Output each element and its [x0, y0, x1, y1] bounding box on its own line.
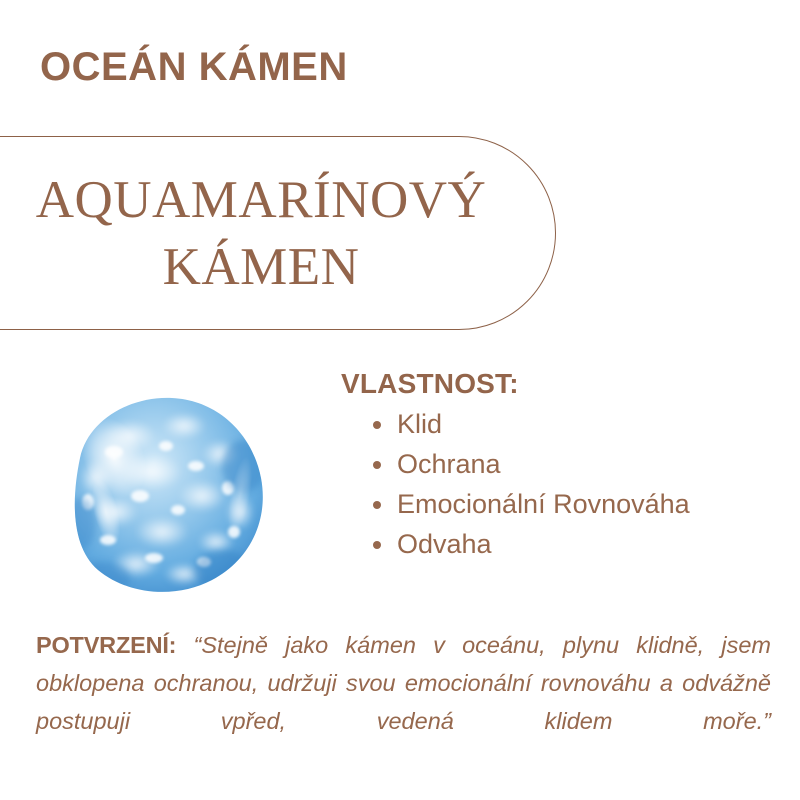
property-label: Odvaha [397, 529, 492, 559]
stone-name-pill-inner: AQUAMARÍNOVÝ KÁMEN [1, 137, 521, 331]
properties-list: Klid Ochrana Emocionální Rovnováha Odvah… [341, 405, 781, 565]
list-item: Emocionální Rovnováha [373, 485, 781, 525]
properties-section: VLASTNOST: Klid Ochrana Emocionální Rovn… [341, 368, 781, 565]
list-item: Klid [373, 405, 781, 445]
affirmation-section: POTVRZENÍ: “Stejně jako kámen v oceánu, … [36, 626, 771, 778]
bullet-icon [373, 501, 381, 509]
property-label: Emocionální Rovnováha [397, 489, 690, 519]
properties-heading: VLASTNOST: [341, 368, 781, 399]
stone-name-pill: AQUAMARÍNOVÝ KÁMEN [0, 136, 556, 330]
stone-image [44, 392, 270, 598]
affirmation-spacer [176, 632, 193, 658]
bullet-icon [373, 421, 381, 429]
bullet-icon [373, 461, 381, 469]
list-item: Odvaha [373, 525, 781, 565]
gemstone-icon [44, 392, 270, 598]
stone-name-heading: AQUAMARÍNOVÝ KÁMEN [1, 167, 521, 301]
page-title: OCEÁN KÁMEN [40, 44, 348, 90]
bullet-icon [373, 541, 381, 549]
property-label: Klid [397, 409, 442, 439]
stone-info-card: OCEÁN KÁMEN AQUAMARÍNOVÝ KÁMEN [0, 0, 800, 800]
property-label: Ochrana [397, 449, 501, 479]
affirmation-label: POTVRZENÍ: [36, 632, 176, 658]
list-item: Ochrana [373, 445, 781, 485]
